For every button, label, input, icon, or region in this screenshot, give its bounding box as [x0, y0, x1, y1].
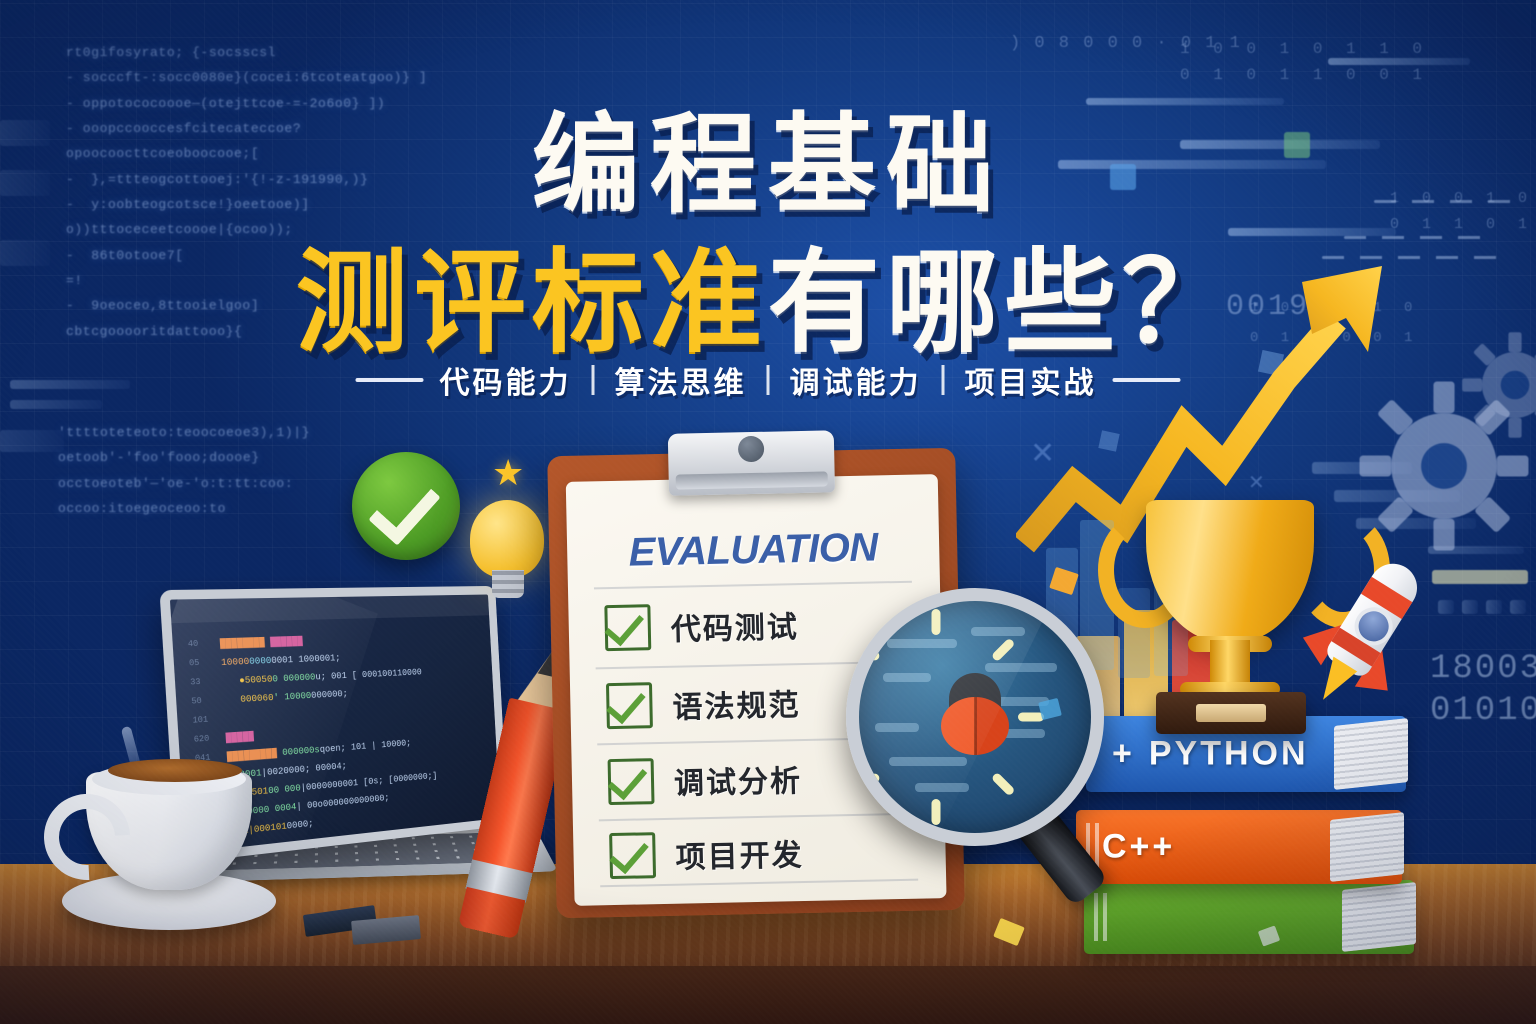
gear-icon-small [1460, 330, 1536, 440]
book-label-text: PYTHON [1149, 735, 1309, 774]
checklist-label: 项目开发 [675, 830, 804, 877]
subtitle-item-3: 项目实战 [965, 358, 1097, 402]
book-label-python: + PYTHON [1112, 735, 1309, 774]
background-code-left-lower: 'ttttoteteoto:teoocoeoe3),1)|} oetoob'-'… [58, 420, 310, 521]
clipboard-title: EVALUATION [567, 524, 940, 577]
book-label-cpp: C++ [1102, 828, 1175, 867]
book-green [1084, 880, 1414, 954]
checkbox-checked-icon[interactable] [604, 604, 651, 651]
checklist-item[interactable]: 代码测试 [604, 601, 799, 651]
trophy-stem [1210, 640, 1250, 688]
book-cpp: C++ [1076, 810, 1402, 884]
checkbox-checked-icon[interactable] [606, 682, 653, 729]
background-code-left: rt0gifosyrato; {-socsscsl - socccft-:soc… [66, 40, 427, 344]
checklist-item[interactable]: 项目开发 [609, 829, 804, 879]
trophy-plate [1196, 704, 1266, 722]
book-pages [1342, 882, 1416, 952]
subtitle-item-1: 算法思维 [615, 358, 747, 402]
checklist-label: 代码测试 [670, 602, 799, 649]
binary-row-header: ) 0 8 0 0 0 · 0 1 1 [1010, 34, 1242, 53]
subtitle-item-2: 调试能力 [790, 358, 922, 402]
check-circle-icon [352, 452, 460, 560]
checklist-item[interactable]: 调试分析 [608, 755, 803, 805]
book-pages [1330, 812, 1404, 882]
headline-line-1: 编程基础 [532, 78, 1004, 234]
coffee-liquid [108, 759, 242, 782]
checkbox-checked-icon[interactable] [608, 758, 655, 805]
subtitle-item-0: 代码能力 [440, 358, 572, 402]
subtitle-rule-right [1113, 378, 1181, 382]
magnifier-icon [846, 588, 1104, 846]
subtitle-rule-left [356, 378, 424, 382]
subtitle-separator [767, 365, 770, 395]
subtitle-separator [942, 365, 945, 395]
checklist-label: 调试分析 [674, 756, 803, 803]
checklist-item[interactable]: 语法规范 [606, 679, 801, 729]
binary-row-b: 0 1 1 0 1 0 [1390, 216, 1536, 233]
checkbox-checked-icon[interactable] [609, 832, 656, 879]
book-bands [1094, 893, 1108, 940]
desk-front-edge [0, 966, 1536, 1024]
lightbulb-base [492, 570, 524, 598]
checklist-label: 语法规范 [672, 680, 801, 727]
subtitle-separator [592, 365, 595, 395]
background-number-right-mid: 18003 [1430, 650, 1536, 688]
lightbulb-icon [470, 500, 544, 578]
book-prefix-plus: + [1112, 735, 1135, 774]
cup-rim [92, 763, 246, 795]
binary-row-top2: 0 1 0 1 1 0 0 1 [1180, 66, 1429, 84]
subtitle-group: 代码能力 算法思维 调试能力 项目实战 [356, 358, 1181, 402]
binary-row-a: 1 0 0 1 0 0 [1390, 190, 1536, 207]
poster-canvas: rt0gifosyrato; {-socsscsl - socccft-:soc… [0, 0, 1536, 1024]
background-number-right-bottom: 01010 [1430, 692, 1536, 730]
star-icon: ★ [492, 456, 526, 490]
book-pages [1334, 718, 1408, 790]
